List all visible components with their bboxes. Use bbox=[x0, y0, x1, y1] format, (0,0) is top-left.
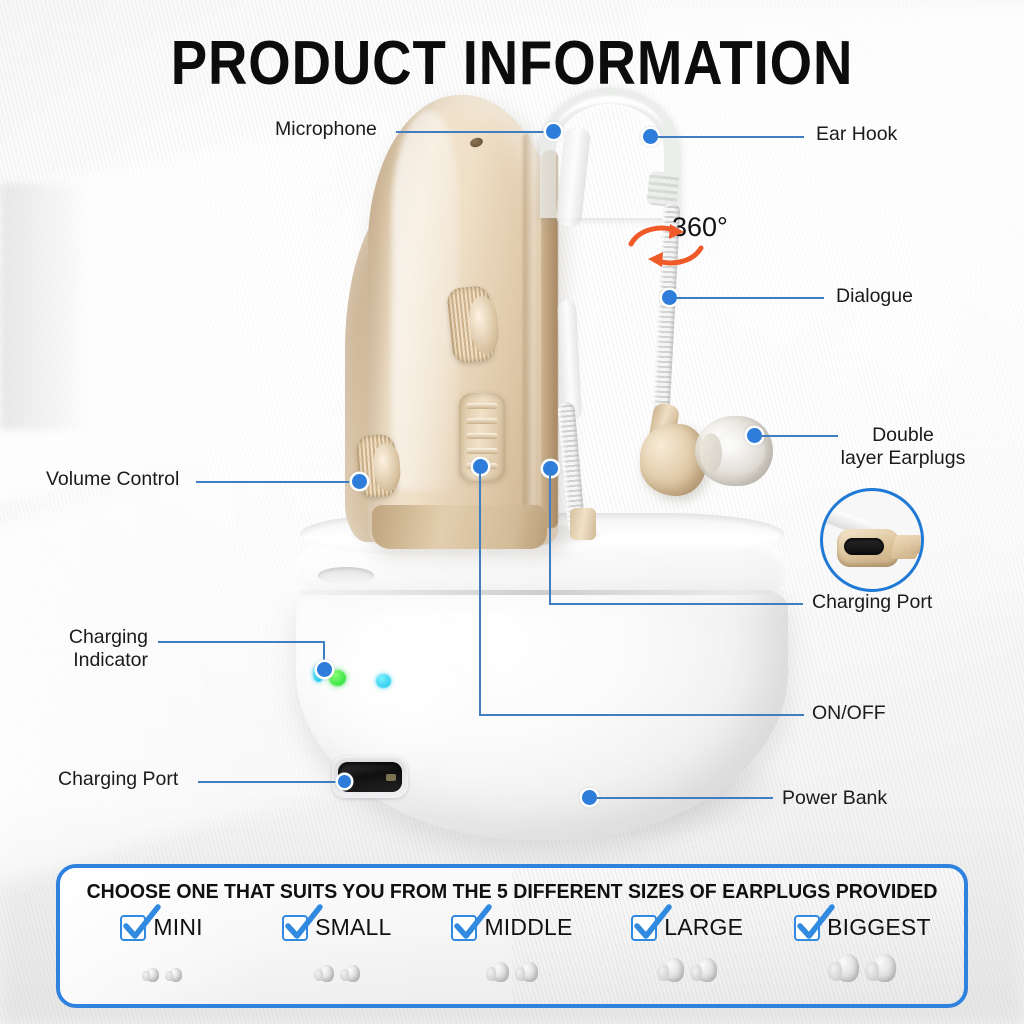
ear-hook-connector bbox=[646, 171, 679, 208]
earplug-size-option-biggest[interactable]: BIGGEST bbox=[775, 914, 950, 982]
device-base bbox=[372, 505, 547, 549]
infographic-canvas: PRODUCT INFORMATION bbox=[0, 0, 1024, 1024]
earplug-size-option-small[interactable]: SMALL bbox=[249, 914, 424, 982]
inset-plug-tip bbox=[911, 541, 924, 554]
check-icon bbox=[121, 905, 161, 945]
callout-ear-hook-label: Ear Hook bbox=[816, 123, 897, 146]
earplug-thumb bbox=[314, 964, 334, 982]
checkbox-biggest[interactable] bbox=[794, 915, 820, 941]
inset-usb-c-slot bbox=[844, 538, 884, 555]
earplug-thumb bbox=[657, 957, 684, 982]
check-icon bbox=[452, 905, 492, 945]
callout-charging-indicator-label-line1: Charging bbox=[40, 626, 148, 649]
callout-volume-control-leader bbox=[196, 481, 354, 483]
callout-earplugs-label: Double layer Earplugs bbox=[833, 424, 973, 470]
case-lid-seam bbox=[300, 590, 784, 595]
earplug-thumb bbox=[828, 953, 859, 982]
earplug-thumb bbox=[142, 967, 159, 982]
earplug-pair-small bbox=[314, 948, 360, 982]
callout-power-bank-leader bbox=[595, 797, 773, 799]
callout-dialogue-label: Dialogue bbox=[836, 285, 913, 308]
callout-on-off-leader-v bbox=[479, 472, 481, 715]
earplug-thumb bbox=[515, 961, 538, 982]
earplug-pair-middle bbox=[486, 948, 538, 982]
callout-microphone-dot bbox=[546, 124, 561, 139]
checkbox-mini[interactable] bbox=[120, 915, 146, 941]
case-thumb-notch bbox=[318, 567, 374, 584]
callout-dialogue-dot bbox=[662, 290, 677, 305]
earplug-thumb bbox=[340, 964, 360, 982]
earplug-size-label: LARGE bbox=[664, 914, 743, 941]
led-indicator-green bbox=[329, 670, 346, 686]
led-indicator-cyan-right bbox=[376, 674, 391, 688]
callout-earplugs-label-line1: Double bbox=[833, 424, 973, 447]
callout-power-bank-label: Power Bank bbox=[782, 787, 887, 810]
check-icon bbox=[795, 905, 835, 945]
banner-headline: CHOOSE ONE THAT SUITS YOU FROM THE 5 DIF… bbox=[83, 880, 942, 904]
callout-charging-indicator-dot bbox=[317, 662, 332, 677]
callout-charging-indicator-label: Charging Indicator bbox=[40, 626, 148, 672]
callout-charging-port-earplug-leader-h bbox=[549, 603, 803, 605]
check-icon bbox=[632, 905, 672, 945]
earplug-thumb bbox=[165, 967, 182, 982]
earplug-thumb bbox=[486, 961, 509, 982]
callout-charging-indicator-leader-h bbox=[158, 641, 325, 643]
earplug-pair-large bbox=[657, 948, 717, 982]
earplug-size-label: BIGGEST bbox=[827, 914, 931, 941]
callout-earplugs-leader bbox=[760, 435, 838, 437]
callout-earplugs-label-line2: layer Earplugs bbox=[833, 447, 973, 470]
callout-on-off-leader-h bbox=[479, 714, 804, 716]
callout-charging-indicator-label-line2: Indicator bbox=[40, 649, 148, 672]
callout-charging-port-earplug-leader-v bbox=[549, 474, 551, 604]
earplug-pair-mini bbox=[142, 948, 182, 982]
earplug-thumb bbox=[690, 957, 717, 982]
earplug-size-list: MINI S bbox=[74, 914, 950, 982]
earplug-size-label: MIDDLE bbox=[484, 914, 572, 941]
callout-microphone-label: Microphone bbox=[275, 118, 377, 141]
earplug-sizes-banner: CHOOSE ONE THAT SUITS YOU FROM THE 5 DIF… bbox=[56, 864, 968, 1008]
callout-charging-port-earplug-label: Charging Port bbox=[812, 591, 932, 614]
earplug-pair-biggest bbox=[828, 948, 896, 982]
earplug-size-option-middle[interactable]: MIDDLE bbox=[424, 914, 599, 982]
callout-charging-port-case-leader bbox=[198, 781, 340, 783]
callout-ear-hook-leader bbox=[656, 136, 804, 138]
device-seam bbox=[523, 132, 535, 524]
rotation-arrow-left-icon bbox=[642, 243, 704, 269]
callout-charging-port-case-dot bbox=[338, 775, 351, 788]
checkbox-small[interactable] bbox=[282, 915, 308, 941]
callout-on-off-label: ON/OFF bbox=[812, 702, 886, 725]
earplug-size-label: SMALL bbox=[315, 914, 391, 941]
callout-dialogue-leader bbox=[676, 297, 824, 299]
callout-volume-control-label: Volume Control bbox=[46, 468, 179, 491]
callout-microphone-leader bbox=[396, 131, 552, 133]
earplug-thumb bbox=[865, 953, 896, 982]
callout-volume-control-dot bbox=[352, 474, 367, 489]
charging-port-detail-inset bbox=[820, 488, 924, 592]
earplug-size-option-mini[interactable]: MINI bbox=[74, 914, 249, 982]
checkbox-large[interactable] bbox=[631, 915, 657, 941]
callout-charging-port-case-label: Charging Port bbox=[58, 768, 178, 791]
tube-base-connector bbox=[570, 508, 596, 540]
earplug-ring bbox=[700, 433, 722, 473]
check-icon bbox=[283, 905, 323, 945]
checkbox-middle[interactable] bbox=[451, 915, 477, 941]
earplug-size-option-large[interactable]: LARGE bbox=[600, 914, 775, 982]
